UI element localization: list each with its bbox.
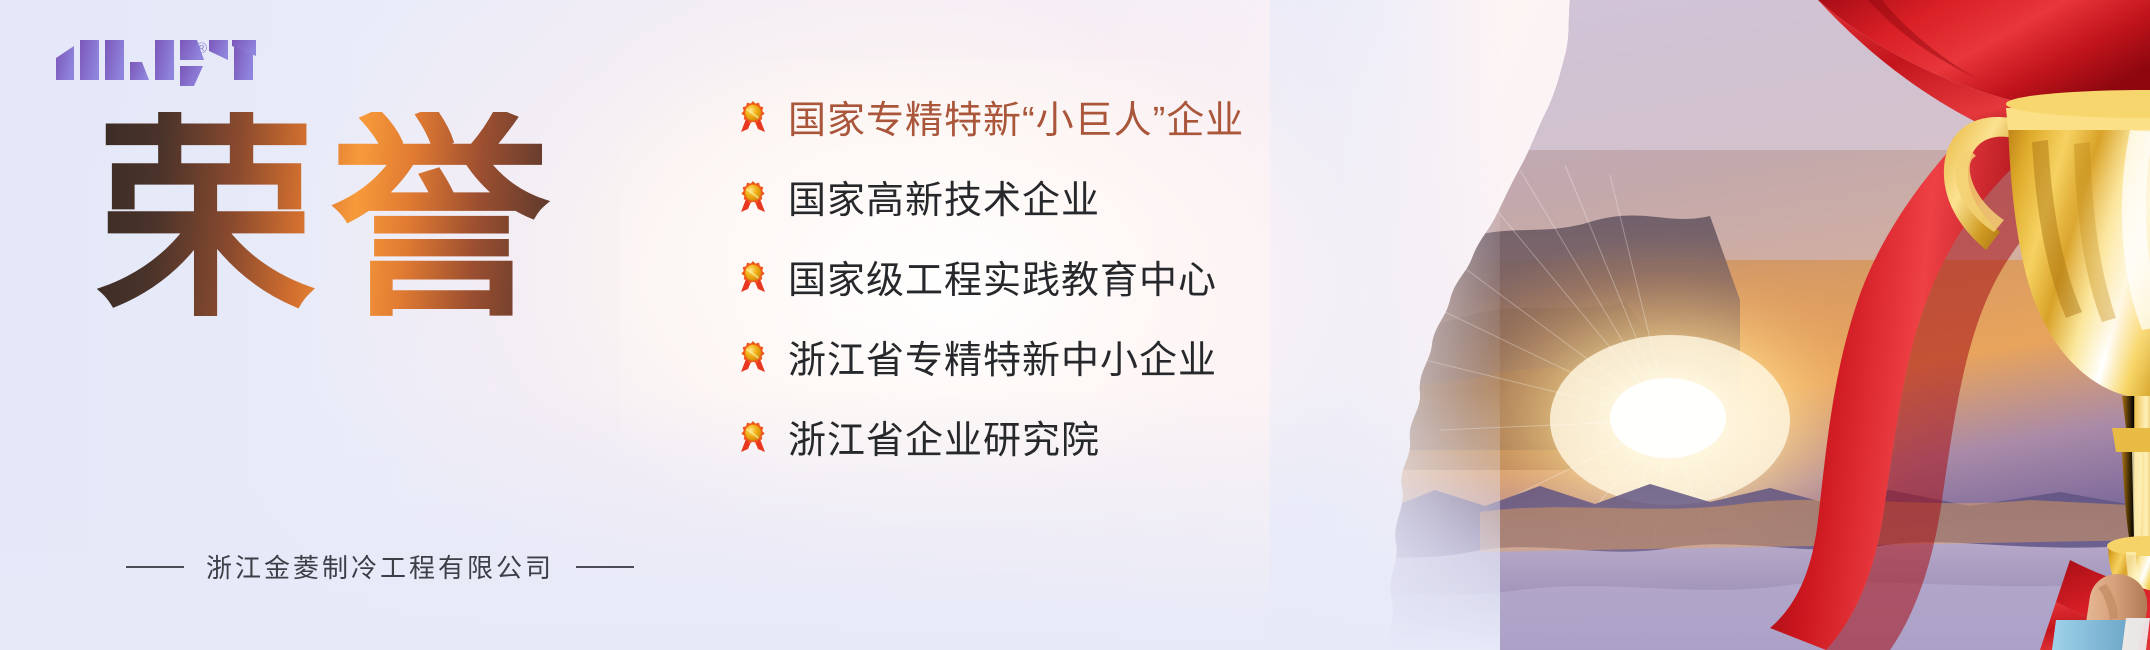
medal-icon xyxy=(738,419,768,453)
medal-icon xyxy=(738,339,768,373)
honor-label: 国家级工程实践教育中心 xyxy=(788,249,1217,304)
honor-item[interactable]: 浙江省企业研究院 xyxy=(738,406,1358,466)
medal-icon xyxy=(738,179,768,213)
divider-left xyxy=(126,566,184,568)
trophy-artwork xyxy=(1270,0,2150,650)
divider-right xyxy=(576,566,634,568)
honor-label: 浙江省企业研究院 xyxy=(788,409,1100,464)
registered-mark-icon: ® xyxy=(196,40,207,57)
company-name-line: 浙江金菱制冷工程有限公司 xyxy=(126,548,634,585)
honor-label: 国家高新技术企业 xyxy=(788,169,1100,224)
honor-label: 国家专精特新“小巨人”企业 xyxy=(788,89,1244,144)
medal-icon xyxy=(738,99,768,133)
medal-icon xyxy=(738,259,768,293)
honor-item[interactable]: 国家级工程实践教育中心 xyxy=(738,246,1358,306)
honor-label: 浙江省专精特新中小企业 xyxy=(788,329,1217,384)
honor-item[interactable]: 浙江省专精特新中小企业 xyxy=(738,326,1358,386)
honors-list: 国家专精特新“小巨人”企业 国家高新技术企业 xyxy=(738,86,1358,486)
honor-banner: ® 荣誉 浙江金菱制冷工程有限公司 xyxy=(0,0,2150,650)
page-title: 荣誉 xyxy=(96,112,564,327)
company-name: 浙江金菱制冷工程有限公司 xyxy=(206,548,554,585)
honor-item[interactable]: 国家专精特新“小巨人”企业 xyxy=(738,86,1358,146)
honor-item[interactable]: 国家高新技术企业 xyxy=(738,166,1358,226)
